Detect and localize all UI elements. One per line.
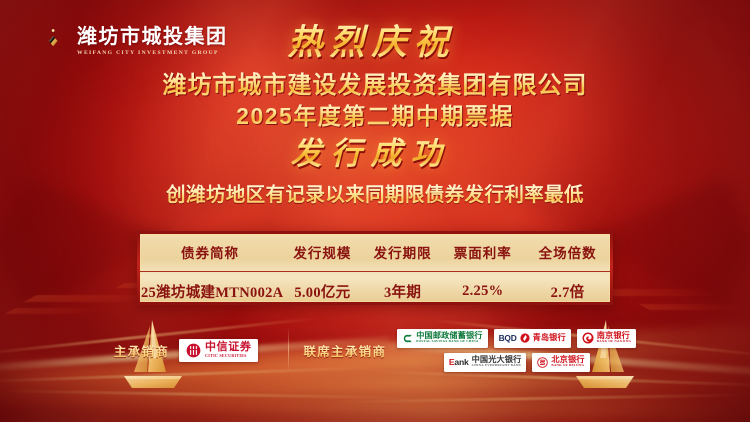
poster-canvas: 潍坊市城投集团 WEIFANG CITY INVESTMENT GROUP 热烈…	[0, 0, 750, 422]
bqd-mark-icon	[520, 333, 530, 343]
nanjing-name-en: BANK OF NANJING	[597, 340, 631, 344]
citic-securities-logo: 中信证券 CITIC SECURITIES	[179, 339, 258, 362]
underwriter-strip: 主承销商 中信证券 CITIC SECURITIES 联席主承销商	[0, 320, 750, 380]
bqd-wordmark: BQD	[499, 333, 517, 343]
table-header-row: 债券简称 发行规模 发行期限 票面利率 全场倍数	[140, 234, 610, 272]
citic-name-cn: 中信证券	[205, 342, 251, 354]
cell-issue-size: 5.00亿元	[280, 272, 365, 310]
citic-name-en: CITIC SECURITIES	[205, 354, 247, 359]
table-row: 25潍坊城建MTN002A 5.00亿元 3年期 2.25% 2.7倍	[140, 272, 610, 310]
beijing-mark-icon	[537, 357, 548, 368]
crescent-moon-diamond-icon	[26, 20, 68, 62]
bank-of-nanjing-logo: 南京银行 BANK OF NANJING	[577, 329, 636, 348]
logo-company-name-en: WEIFANG CITY INVESTMENT GROUP	[77, 50, 228, 56]
headline-company: 潍坊市城市建设发展投资集团有限公司	[0, 71, 750, 101]
joint-underwriter-label: 联席主承销商	[303, 341, 386, 360]
table-header-issue-size: 发行规模	[280, 234, 365, 272]
bqd-name-cn: 青岛银行	[533, 334, 566, 343]
everbright-name-en: CHINA EVERBRIGHT BANK	[472, 364, 522, 368]
joint-logo-row-1: 中国邮政储蓄银行 POSTAL SAVINGS BANK OF CHINA BQ…	[397, 329, 636, 348]
psbc-mark-icon	[402, 333, 413, 344]
cell-bond-name: 25潍坊城建MTN002A	[140, 272, 280, 310]
psbc-name-en: POSTAL SAVINGS BANK OF CHINA	[416, 340, 478, 344]
headline-issue: 2025年度第二期中期票据	[0, 102, 750, 131]
psbc-logo: 中国邮政储蓄银行 POSTAL SAVINGS BANK OF CHINA	[397, 329, 487, 348]
underwriter-divider	[288, 328, 289, 372]
headline-success: 发行成功	[0, 135, 750, 174]
bank-of-beijing-logo: 北京银行 BANK OF BEIJING	[532, 353, 589, 372]
joint-underwriter-logos: 中国邮政储蓄银行 POSTAL SAVINGS BANK OF CHINA BQ…	[397, 329, 636, 372]
beijing-name-en: BANK OF BEIJING	[551, 364, 584, 368]
joint-logo-row-2: Eank 中国光大银行 CHINA EVERBRIGHT BANK 北京银行	[397, 353, 636, 372]
lead-underwriter-label: 主承销商	[114, 341, 169, 360]
bank-of-qingdao-logo: BQD 青岛银行	[494, 329, 571, 348]
bond-detail-table: 债券简称 发行规模 发行期限 票面利率 全场倍数 25潍坊城建MTN002A 5…	[137, 231, 613, 305]
headline-subtitle: 创潍坊地区有记录以来同期限债券发行利率最低	[0, 183, 750, 207]
everbright-bank-logo: Eank 中国光大银行 CHINA EVERBRIGHT BANK	[444, 353, 527, 372]
cell-coupon-rate: 2.25%	[440, 272, 525, 310]
table-header-issue-term: 发行期限	[365, 234, 441, 272]
everbright-wordmark: Eank	[449, 357, 469, 367]
table-header-bond-name: 债券简称	[140, 234, 280, 272]
lead-underwriter-group: 主承销商 中信证券 CITIC SECURITIES	[114, 339, 275, 362]
company-logo: 潍坊市城投集团 WEIFANG CITY INVESTMENT GROUP	[26, 20, 228, 62]
joint-underwriter-group: 联席主承销商 中国邮政储蓄银行 POSTAL SAVINGS BANK OF C…	[303, 329, 636, 372]
logo-company-name-cn: 潍坊市城投集团	[77, 27, 228, 48]
citic-securities-mark-icon	[186, 343, 201, 358]
table-header-subscription-multiple: 全场倍数	[525, 234, 610, 272]
nanjing-mark-icon	[582, 332, 594, 344]
cell-issue-term: 3年期	[365, 272, 441, 310]
cell-subscription-multiple: 2.7倍	[525, 272, 610, 310]
table-header-coupon-rate: 票面利率	[440, 234, 525, 272]
